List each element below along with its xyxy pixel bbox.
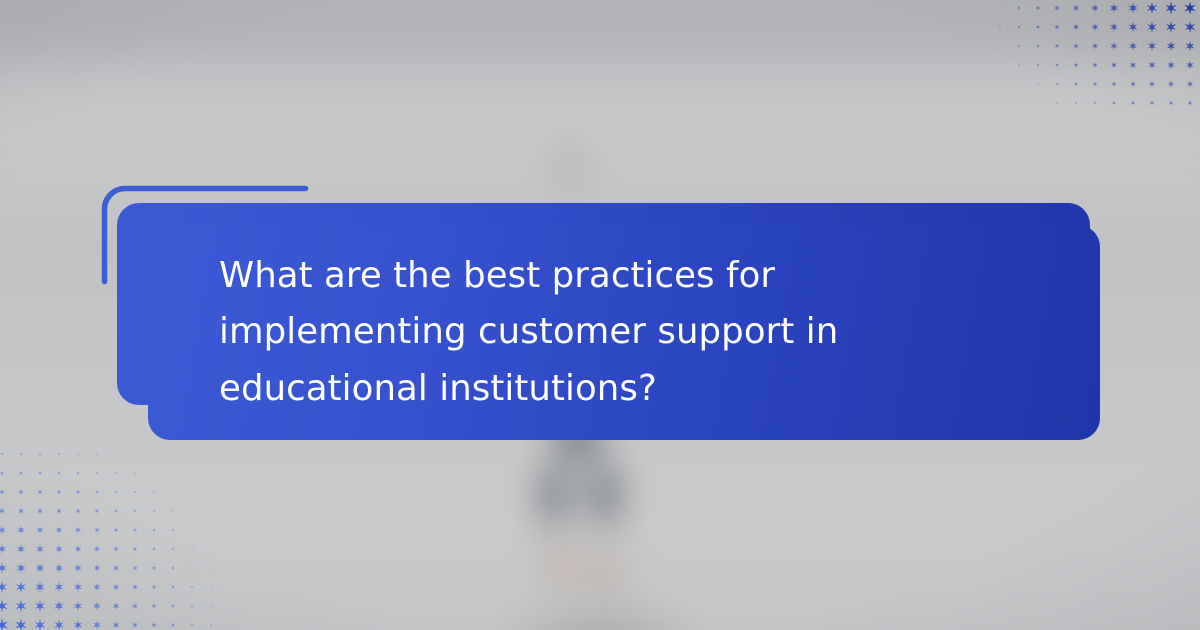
question-title: What are the best practices for implemen… xyxy=(148,248,1077,416)
question-card: What are the best practices for implemen… xyxy=(148,225,1100,440)
share-card-canvas: What are the best practices for implemen… xyxy=(0,0,1200,630)
